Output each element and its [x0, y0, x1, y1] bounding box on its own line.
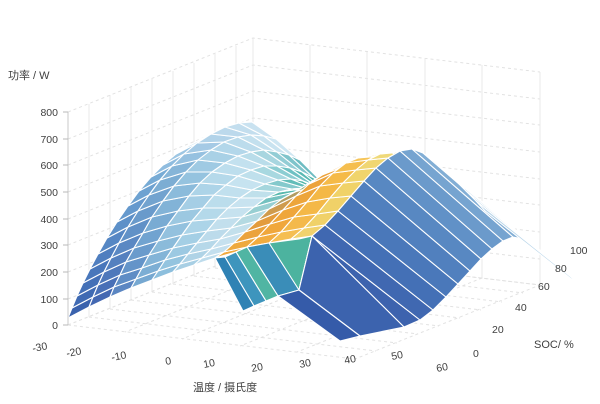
temperature-tick-0: 0: [164, 355, 172, 368]
temperature-tick-20: 20: [250, 361, 264, 375]
soc-tick-20: 20: [492, 324, 504, 336]
power-tick-300: 300: [40, 240, 58, 252]
temperature-axis-title: 温度 / 摄氏度: [193, 380, 257, 394]
power-tick-100: 100: [40, 294, 58, 306]
temperature-tick-10: 10: [202, 357, 216, 371]
power-tick-200: 200: [40, 267, 58, 279]
power-tick-400: 400: [40, 214, 58, 226]
soc-axis: 0 20 40 60 80 100 SOC/ %: [473, 245, 588, 360]
temperature-tick-40: 40: [343, 353, 357, 367]
power-axis-title: 功率 / W: [8, 68, 50, 82]
power-tick-600: 600: [40, 160, 58, 172]
temperature-axis: -30 -20 -10 0 10 20 30 40 50 60 温度 / 摄氏度: [31, 340, 449, 394]
power-axis: 800 700 600 500 400 300 200 100 0 功率 / W: [8, 68, 68, 332]
temperature-tick-50: 50: [390, 349, 404, 363]
soc-tick-60: 60: [538, 281, 550, 293]
power-tick-500: 500: [40, 187, 58, 199]
temperature-tick--10: -10: [110, 349, 127, 364]
power-tick-700: 700: [40, 134, 58, 146]
temperature-tick-60: 60: [435, 361, 449, 375]
soc-tick-40: 40: [515, 302, 527, 314]
temperature-tick--20: -20: [65, 345, 82, 360]
power-axis-ticks: [63, 112, 68, 325]
soc-tick-100: 100: [570, 245, 588, 257]
surface-mesh: [68, 122, 579, 341]
soc-tick-0: 0: [473, 348, 479, 360]
soc-tick-80: 80: [555, 263, 567, 275]
temperature-tick-30: 30: [298, 357, 312, 371]
power-tick-0: 0: [52, 320, 58, 332]
power-tick-800: 800: [40, 107, 58, 119]
surface-chart: 800 700 600 500 400 300 200 100 0 功率 / W…: [0, 0, 600, 404]
temperature-tick--30: -30: [31, 340, 48, 355]
soc-axis-title: SOC/ %: [534, 339, 574, 351]
